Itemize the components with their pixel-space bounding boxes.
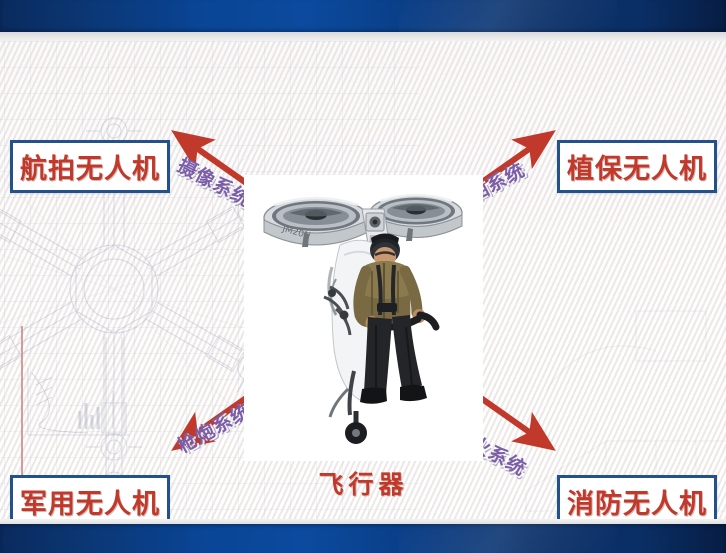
- slide-canvas: 摄像系统 喷洒系统 枪炮系统 灭火系统 JM20N: [0, 41, 726, 524]
- label-box-aerial-drone[interactable]: 航拍无人机: [10, 140, 170, 193]
- center-photo-panel: JM20N: [244, 175, 483, 461]
- band-gloss: [399, 0, 617, 32]
- center-caption: 飞行器: [244, 465, 483, 501]
- label-box-firefighting-drone-text: 消防无人机: [567, 482, 707, 521]
- blueprint-mini-chart-icon: [18, 363, 138, 443]
- label-box-plant-protection-drone-text: 植保无人机: [567, 147, 707, 186]
- top-decorative-band: [0, 0, 726, 32]
- label-box-military-drone-text: 军用无人机: [20, 482, 160, 521]
- label-box-military-drone[interactable]: 军用无人机: [10, 475, 170, 524]
- system-label-gun: 枪炮系统: [172, 396, 255, 458]
- label-box-plant-protection-drone[interactable]: 植保无人机: [557, 140, 717, 193]
- label-box-aerial-drone-text: 航拍无人机: [20, 147, 160, 186]
- band-gloss-bottom: [399, 524, 617, 553]
- bottom-decorative-band: [0, 524, 726, 553]
- vtol-flyer-photo: JM20N: [244, 175, 483, 461]
- slide-root: 摄像系统 喷洒系统 枪炮系统 灭火系统 JM20N: [0, 0, 726, 553]
- label-box-firefighting-drone[interactable]: 消防无人机: [557, 475, 717, 524]
